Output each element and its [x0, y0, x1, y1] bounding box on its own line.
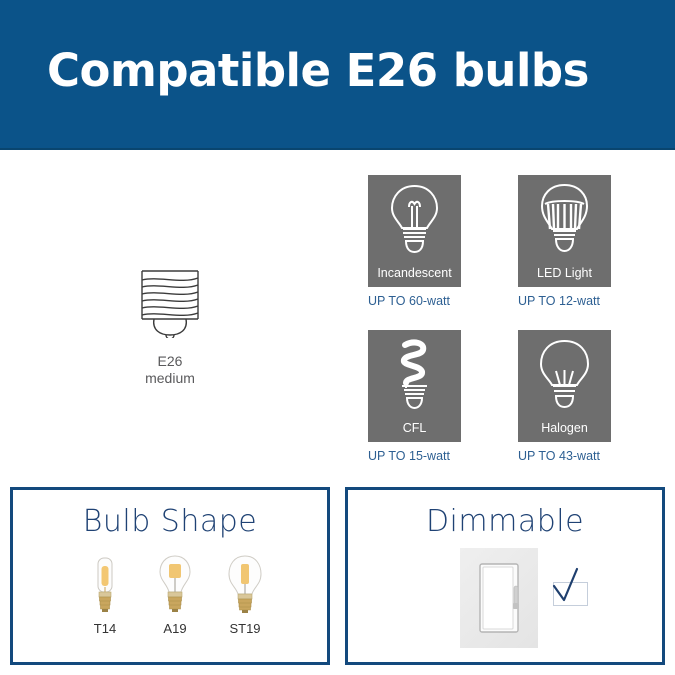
e26-base-code: E26 — [100, 353, 240, 370]
bulb-type-caption: UP TO 15-watt — [368, 449, 461, 463]
a19-standard-bulb-icon — [145, 552, 205, 616]
bulb-shape-title: Bulb Shape — [13, 504, 327, 539]
bulb-shape-label: ST19 — [215, 621, 275, 636]
bulb-type-name: Halogen — [518, 421, 611, 435]
bulb-type-caption: UP TO 43-watt — [518, 449, 611, 463]
bulb-type-tile[interactable]: Halogen — [518, 330, 611, 442]
bulb-shape-label: A19 — [145, 621, 205, 636]
halogen-bulb-icon — [518, 334, 611, 414]
e26-screw-base-icon — [100, 262, 240, 343]
bulb-shape-st19[interactable]: ST19 — [215, 552, 275, 636]
bulb-shape-panel: Bulb Shape T14 — [10, 487, 330, 665]
bulb-type-name: LED Light — [518, 266, 611, 280]
bulb-type-name: Incandescent — [368, 266, 461, 280]
page-header: Compatible E26 bulbs — [0, 0, 675, 150]
dimmer-switch-image — [460, 548, 538, 648]
bulb-shape-list: T14 A19 — [75, 552, 275, 636]
incandescent-bulb-icon — [368, 179, 461, 259]
bulb-type-tile[interactable]: Incandescent — [368, 175, 461, 287]
bulb-shape-a19[interactable]: A19 — [145, 552, 205, 636]
cfl-spiral-bulb-icon — [368, 334, 461, 414]
dimmable-checkbox[interactable] — [553, 582, 588, 606]
bulb-type-incandescent[interactable]: Incandescent UP TO 60-watt — [368, 175, 461, 308]
bulb-type-name: CFL — [368, 421, 461, 435]
bulb-shape-label: T14 — [75, 621, 135, 636]
bulb-type-tile[interactable]: LED Light — [518, 175, 611, 287]
dimmable-title: Dimmable — [348, 504, 662, 539]
bulb-type-led[interactable]: LED Light UP TO 12-watt — [518, 175, 611, 308]
led-bulb-icon — [518, 179, 611, 259]
dimmable-panel: Dimmable — [345, 487, 665, 665]
t14-tubular-bulb-icon — [75, 552, 135, 616]
bulb-type-halogen[interactable]: Halogen UP TO 43-watt — [518, 330, 611, 463]
bulb-type-caption: UP TO 12-watt — [518, 294, 611, 308]
bulb-shape-t14[interactable]: T14 — [75, 552, 135, 636]
e26-base-size: medium — [100, 370, 240, 387]
bulb-type-tile[interactable]: CFL — [368, 330, 461, 442]
e26-base-label: E26 medium — [100, 353, 240, 387]
e26-base-block: E26 medium — [100, 262, 240, 387]
bulb-type-caption: UP TO 60-watt — [368, 294, 461, 308]
bulb-type-cfl[interactable]: CFL UP TO 15-watt — [368, 330, 461, 463]
st19-teardrop-bulb-icon — [215, 552, 275, 616]
page-title: Compatible E26 bulbs — [47, 44, 589, 97]
